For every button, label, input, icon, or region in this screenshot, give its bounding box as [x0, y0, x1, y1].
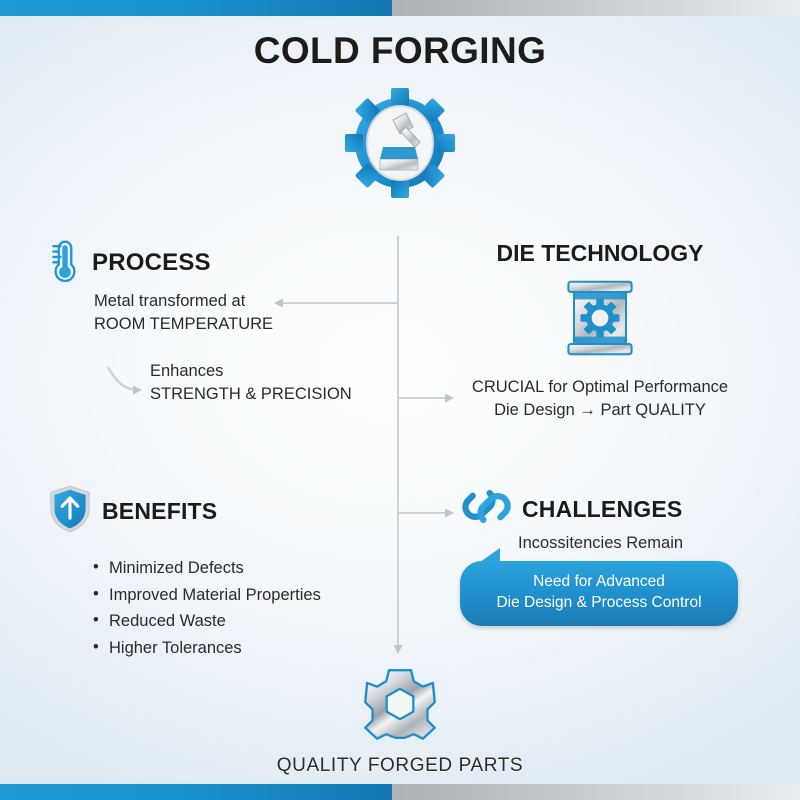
- section-outcome: QUALITY FORGED PARTS: [250, 664, 550, 777]
- die-technology-heading: DIE TECHNOLOGY: [430, 240, 770, 267]
- section-challenges: CHALLENGES Incossitencies Remain: [462, 484, 782, 553]
- challenges-callout-bubble: Need for Advanced Die Design & Process C…: [460, 561, 738, 626]
- benefits-heading: BENEFITS: [102, 498, 217, 525]
- challenges-heading: CHALLENGES: [522, 496, 682, 523]
- process-heading: PROCESS: [92, 249, 211, 277]
- enhances-line-2: STRENGTH & PRECISION: [150, 383, 380, 406]
- die-press-gear-icon: [561, 279, 639, 362]
- callout-tail: [472, 548, 500, 562]
- callout-line-2: Die Design & Process Control: [474, 593, 724, 614]
- page-title: COLD FORGING: [0, 30, 800, 72]
- list-item: Improved Material Properties: [93, 582, 378, 609]
- outcome-icon-container: [250, 664, 550, 749]
- challenges-subtitle: Incossitencies Remain: [518, 534, 782, 553]
- process-description: Metal transformed at ROOM TEMPERATURE: [94, 290, 348, 337]
- list-item: Reduced Waste: [93, 608, 378, 635]
- die-technology-line-1: CRUCIAL for Optimal Performance: [430, 376, 770, 399]
- bottom-bar-blue-segment: [0, 784, 392, 800]
- die-icon-container: [430, 279, 770, 362]
- infographic-poster: COLD FORGING: [0, 0, 800, 800]
- benefits-list: Minimized Defects Improved Material Prop…: [93, 555, 378, 662]
- bottom-bar-gray-segment: [392, 784, 800, 800]
- bottom-accent-bar: [0, 784, 800, 800]
- die-technology-line-2: Die Design → Part QUALITY: [430, 399, 770, 422]
- outcome-label: QUALITY FORGED PARTS: [250, 755, 550, 777]
- benefits-header-row: BENEFITS: [48, 484, 378, 539]
- gear-hammer-icon: [340, 86, 460, 201]
- top-bar-gray-segment: [392, 0, 800, 16]
- list-item: Higher Tolerances: [93, 635, 378, 662]
- top-bar-blue-segment: [0, 0, 392, 16]
- process-line-1: Metal transformed at: [94, 290, 348, 313]
- list-item: Minimized Defects: [93, 555, 378, 582]
- process-header-row: PROCESS: [48, 238, 348, 288]
- section-benefits: BENEFITS Minimized Defects Improved Mate…: [48, 484, 378, 662]
- die-technology-description: CRUCIAL for Optimal Performance Die Desi…: [430, 376, 770, 423]
- top-accent-bar: [0, 0, 800, 16]
- shield-up-arrow-icon: [48, 484, 92, 539]
- chain-link-icon: [462, 484, 512, 534]
- curved-arrow-icon: [108, 367, 140, 390]
- section-die-technology: DIE TECHNOLOGY: [430, 240, 770, 423]
- challenges-header-row: CHALLENGES: [462, 484, 782, 534]
- enhances-line-1: Enhances: [150, 360, 380, 383]
- quality-gear-icon: [360, 664, 440, 749]
- callout-line-1: Need for Advanced: [474, 572, 724, 593]
- section-process: PROCESS Metal transformed at ROOM TEMPER…: [48, 238, 348, 337]
- thermometer-icon: [48, 238, 82, 288]
- process-line-2: ROOM TEMPERATURE: [94, 313, 348, 336]
- section-enhances: Enhances STRENGTH & PRECISION: [150, 360, 380, 407]
- enhances-text: Enhances STRENGTH & PRECISION: [150, 360, 380, 407]
